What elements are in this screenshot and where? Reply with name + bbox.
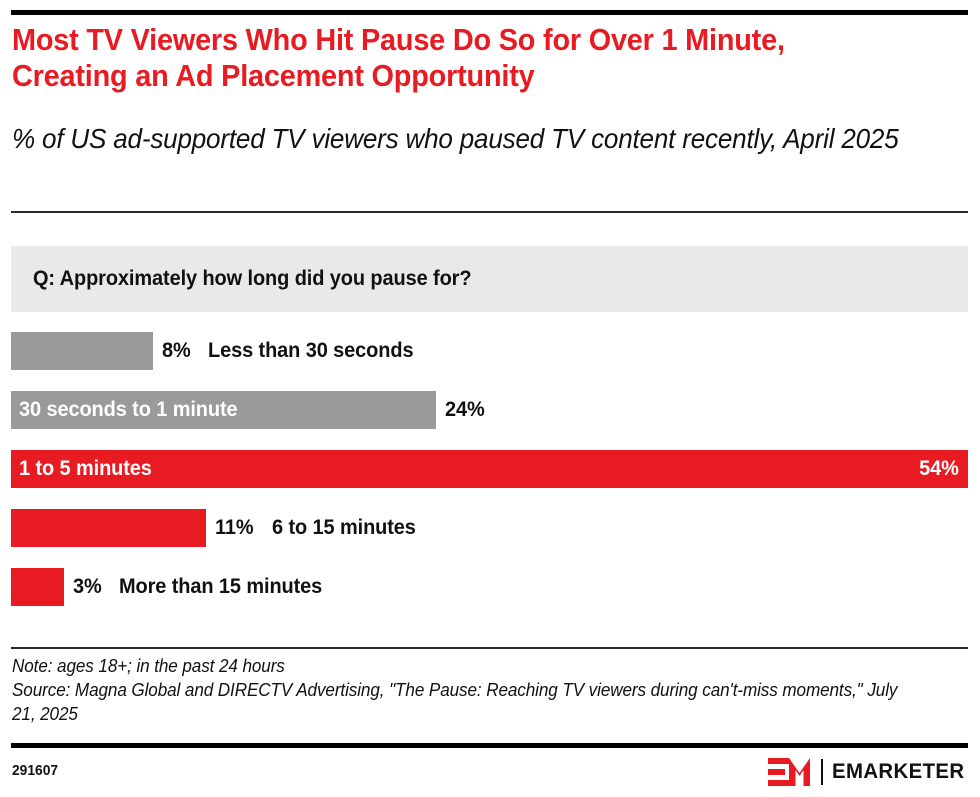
page-title: Most TV Viewers Who Hit Pause Do So for … bbox=[12, 22, 877, 94]
bar-label-outside: Less than 30 seconds bbox=[208, 339, 413, 363]
page-subtitle: % of US ad-supported TV viewers who paus… bbox=[12, 122, 905, 156]
top-rule bbox=[11, 10, 968, 15]
bar-segment[interactable]: 30 seconds to 1 minute bbox=[11, 391, 436, 429]
bar-row: 8%Less than 30 seconds bbox=[0, 332, 980, 370]
bar-value-inside: 54% bbox=[919, 457, 959, 481]
bar-row: 3%More than 15 minutes bbox=[0, 568, 980, 606]
logo-wordmark: EMARKETER bbox=[832, 760, 965, 784]
em-monogram-icon bbox=[768, 758, 812, 786]
bar-row: 1 to 5 minutes54% bbox=[0, 450, 980, 488]
footnotes: Note: ages 18+; in the past 24 hours Sou… bbox=[12, 654, 924, 726]
bar-value-outside: 24% bbox=[445, 398, 485, 422]
bar-segment[interactable] bbox=[11, 509, 206, 547]
bar-label-outside: More than 15 minutes bbox=[119, 575, 322, 599]
emarketer-logo[interactable]: EMARKETER bbox=[768, 757, 969, 787]
note-text: Note: ages 18+; in the past 24 hours bbox=[12, 654, 924, 678]
bar-label-outside: 6 to 15 minutes bbox=[272, 516, 416, 540]
bottom-rule bbox=[11, 743, 968, 748]
footer-divider-rule bbox=[11, 647, 968, 649]
bar-label-inside: 1 to 5 minutes bbox=[19, 457, 152, 481]
header-divider-rule bbox=[11, 211, 968, 213]
bar-segment[interactable] bbox=[11, 332, 153, 370]
bar-segment[interactable] bbox=[11, 568, 64, 606]
logo-divider bbox=[821, 759, 823, 785]
bar-row: 11%6 to 15 minutes bbox=[0, 509, 980, 547]
bar-chart: 8%Less than 30 seconds30 seconds to 1 mi… bbox=[0, 332, 980, 627]
bar-row: 30 seconds to 1 minute24% bbox=[0, 391, 980, 429]
question-label: Q: Approximately how long did you pause … bbox=[33, 266, 471, 292]
bar-segment[interactable]: 1 to 5 minutes54% bbox=[11, 450, 968, 488]
source-text: Source: Magna Global and DIRECTV Adverti… bbox=[12, 678, 924, 726]
chart-id: 291607 bbox=[12, 762, 58, 779]
bar-value-outside: 8% bbox=[162, 339, 191, 363]
bar-value-outside: 11% bbox=[215, 516, 254, 540]
bar-label-inside: 30 seconds to 1 minute bbox=[19, 398, 238, 422]
chart-page: Most TV Viewers Who Hit Pause Do So for … bbox=[0, 0, 980, 797]
bar-value-outside: 3% bbox=[73, 575, 102, 599]
